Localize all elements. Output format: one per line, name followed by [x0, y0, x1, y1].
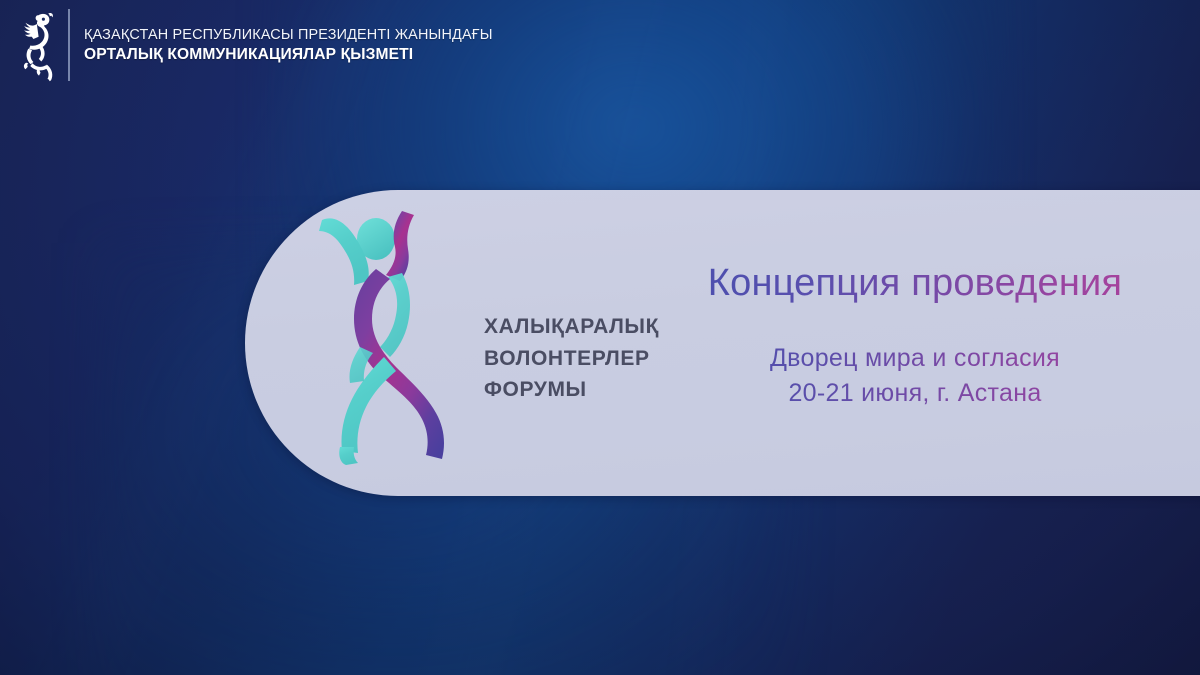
- slide-title: Концепция проведения: [690, 262, 1140, 305]
- event-dates: 20-21 июня, г. Астана: [690, 378, 1140, 410]
- forum-logo-lockup: ХАЛЫҚАРАЛЫҚ ВОЛОНТЕРЛЕР ФОРУМЫ: [310, 207, 659, 465]
- dna-helix-human-figure-icon: [310, 207, 470, 465]
- organisation-name: ҚАЗАҚСТАН РЕСПУБЛИКАСЫ ПРЕЗИДЕНТІ ЖАНЫНД…: [84, 27, 493, 64]
- forum-name: ХАЛЫҚАРАЛЫҚ ВОЛОНТЕРЛЕР ФОРУМЫ: [484, 314, 659, 403]
- kazakhstan-snow-leopard-emblem-icon: [8, 7, 62, 83]
- organisation-line-1: ҚАЗАҚСТАН РЕСПУБЛИКАСЫ ПРЕЗИДЕНТІ ЖАНЫНД…: [84, 27, 493, 43]
- organisation-line-2: ОРТАЛЫҚ КОММУНИКАЦИЯЛАР ҚЫЗМЕТІ: [84, 46, 493, 64]
- venue-info: Дворец мира и согласия 20-21 июня, г. Ас…: [690, 343, 1140, 409]
- presentation-slide: ҚАЗАҚСТАН РЕСПУБЛИКАСЫ ПРЕЗИДЕНТІ ЖАНЫНД…: [0, 0, 1200, 675]
- headline-block: Концепция проведения Дворец мира и согла…: [690, 262, 1140, 409]
- organisation-header: ҚАЗАҚСТАН РЕСПУБЛИКАСЫ ПРЕЗИДЕНТІ ЖАНЫНД…: [0, 0, 493, 90]
- forum-name-line-1: ХАЛЫҚАРАЛЫҚ: [484, 314, 659, 340]
- venue-name: Дворец мира и согласия: [690, 343, 1140, 375]
- header-divider: [68, 9, 70, 81]
- forum-name-line-3: ФОРУМЫ: [484, 377, 659, 403]
- forum-name-line-2: ВОЛОНТЕРЛЕР: [484, 346, 659, 372]
